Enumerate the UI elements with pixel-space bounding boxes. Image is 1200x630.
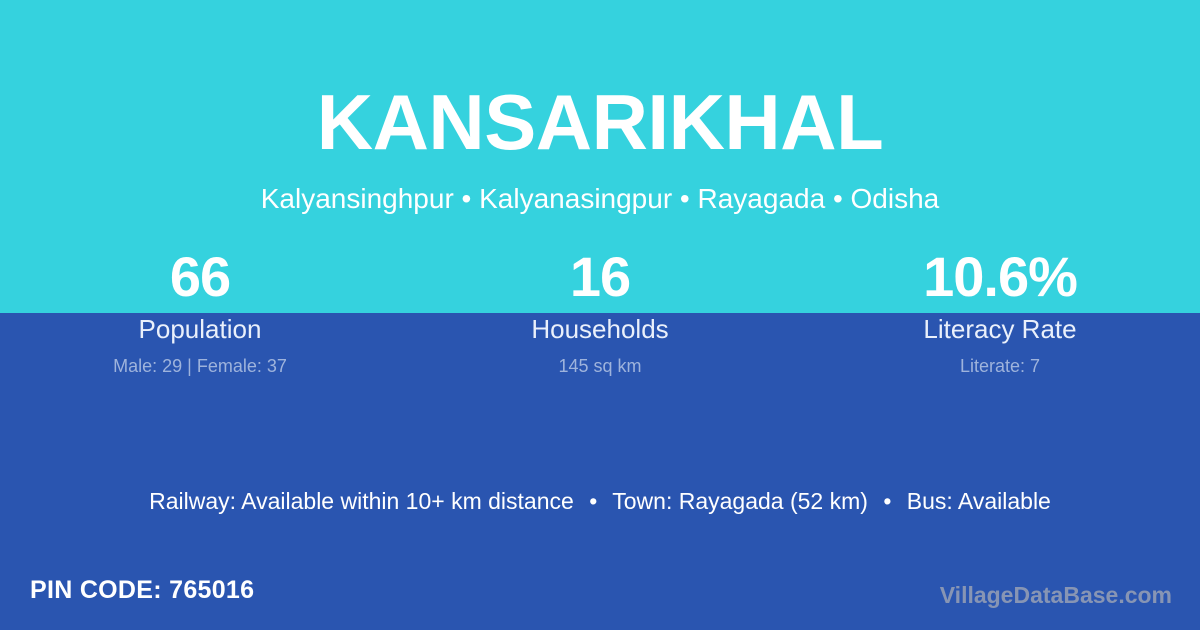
railway-info: Railway: Available within 10+ km distanc… <box>149 488 574 514</box>
breadcrumb: Kalyansinghpur • Kalyanasingpur • Rayaga… <box>0 181 1200 217</box>
stat-literacy-rate: 10.6% Literacy Rate Literate: 7 <box>800 246 1200 378</box>
stats-row: 66 Population Male: 29 | Female: 37 16 H… <box>0 246 1200 378</box>
bus-info: Bus: Available <box>907 488 1051 514</box>
pin-code: PIN CODE: 765016 <box>30 574 254 606</box>
population-breakdown: Male: 29 | Female: 37 <box>0 354 400 378</box>
transport-info-line: Railway: Available within 10+ km distanc… <box>0 485 1200 517</box>
village-info-card: KANSARIKHAL Kalyansinghpur • Kalyanasing… <box>0 0 1200 630</box>
literacy-rate-label: Literacy Rate <box>800 313 1200 345</box>
town-info: Town: Rayagada (52 km) <box>612 488 868 514</box>
page-title: KANSARIKHAL <box>0 80 1200 164</box>
households-label: Households <box>400 313 800 345</box>
stat-population: 66 Population Male: 29 | Female: 37 <box>0 246 400 378</box>
households-value: 16 <box>400 246 800 308</box>
population-label: Population <box>0 313 400 345</box>
info-separator-1: • <box>580 485 606 517</box>
population-value: 66 <box>0 246 400 308</box>
stat-households: 16 Households 145 sq km <box>400 246 800 378</box>
literacy-rate-value: 10.6% <box>800 246 1200 308</box>
literate-count: Literate: 7 <box>800 354 1200 378</box>
households-area: 145 sq km <box>400 354 800 378</box>
site-branding: VillageDataBase.com <box>940 580 1172 610</box>
info-separator-2: • <box>874 485 900 517</box>
